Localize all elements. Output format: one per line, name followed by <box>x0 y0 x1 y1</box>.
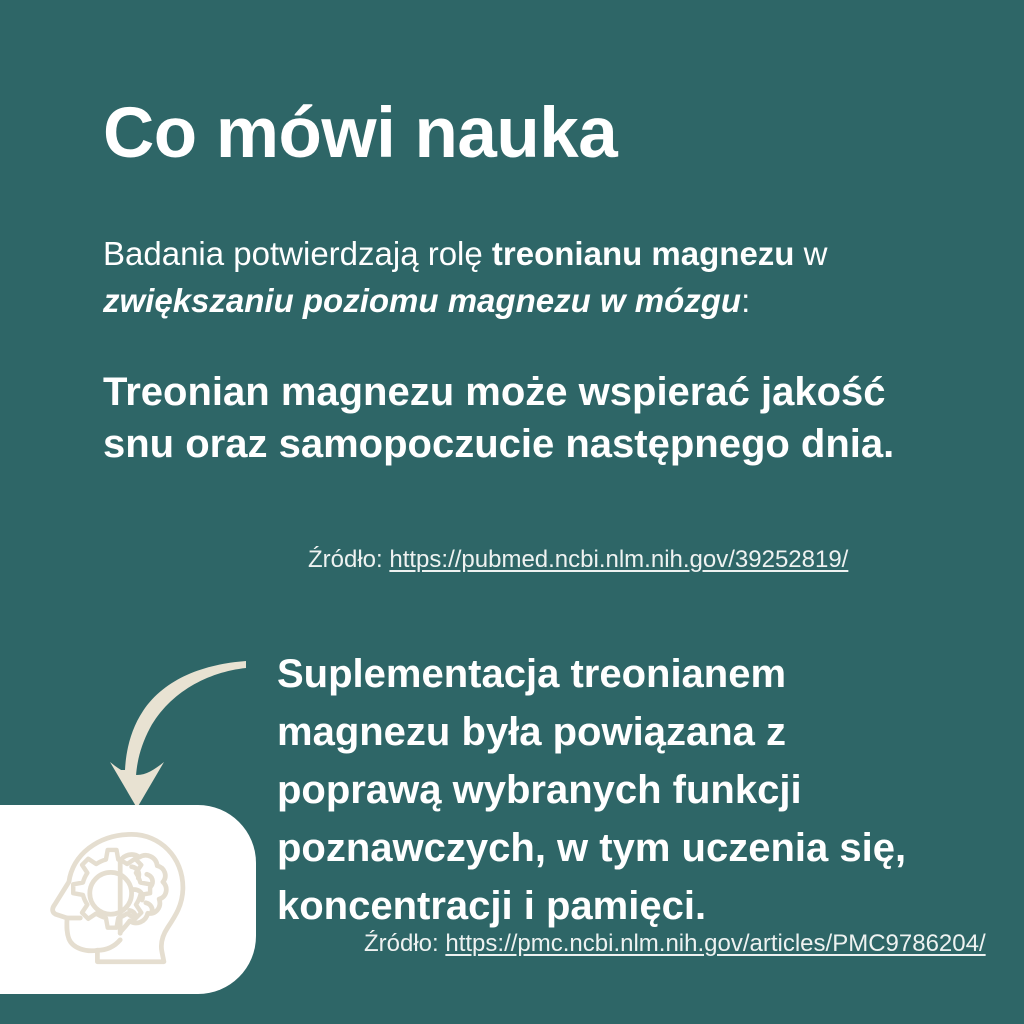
head-brain-gear-icon <box>48 823 200 975</box>
source-label-2: Źródło: <box>364 930 445 957</box>
source-link-2[interactable]: https://pmc.ncbi.nlm.nih.gov/articles/PM… <box>445 930 985 957</box>
claim-text-1: Treonian magnezu może wspierać jakość sn… <box>103 366 903 470</box>
intro-mid-text: w <box>794 235 827 272</box>
curved-down-arrow-icon <box>88 658 268 818</box>
intro-tail-text: : <box>741 282 750 319</box>
intro-italic-term: zwiększaniu poziomu magnezu w mózgu <box>103 282 741 319</box>
intro-paragraph: Badania potwierdzają rolę treonianu magn… <box>103 230 963 324</box>
infographic-slide: Co mówi nauka Badania potwierdzają rolę … <box>0 0 1024 1024</box>
page-title: Co mówi nauka <box>103 98 923 170</box>
source-line-2: Źródło: https://pmc.ncbi.nlm.nih.gov/art… <box>364 930 986 958</box>
source-label-1: Źródło: <box>308 546 389 573</box>
icon-card <box>0 805 256 994</box>
claim-text-2: Suplementacja treonianem magnezu była po… <box>277 645 937 935</box>
source-line-1: Źródło: https://pubmed.ncbi.nlm.nih.gov/… <box>308 546 848 574</box>
intro-bold-term: treonianu magnezu <box>492 235 795 272</box>
source-link-1[interactable]: https://pubmed.ncbi.nlm.nih.gov/39252819… <box>389 546 848 573</box>
intro-lead-text: Badania potwierdzają rolę <box>103 235 492 272</box>
